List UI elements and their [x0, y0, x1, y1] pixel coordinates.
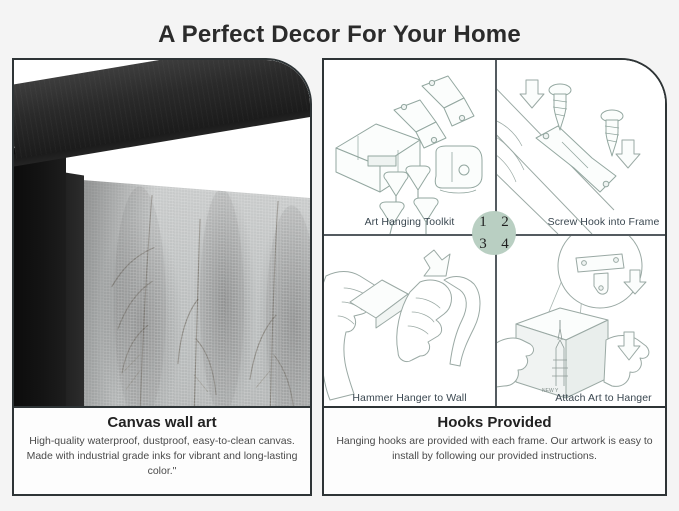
- hammer-hanger-to-wall-illustration: [324, 236, 495, 408]
- left-caption: Canvas wall art High-quality waterproof,…: [14, 406, 310, 494]
- product-photo: [14, 60, 310, 408]
- page-title: A Perfect Decor For Your Home: [0, 21, 679, 49]
- step-number-3: 3: [472, 233, 494, 255]
- canvas-weave-texture: [82, 180, 310, 408]
- step-panel-2: Screw Hook into Frame: [496, 60, 665, 234]
- left-caption-body: High-quality waterproof, dustproof, easy…: [24, 434, 300, 479]
- canvas-frame-photo: [14, 60, 310, 408]
- step-number-4: 4: [494, 233, 516, 255]
- art-hanging-toolkit-illustration: [324, 60, 495, 234]
- step-4-label: Attach Art to Hanger: [496, 392, 665, 404]
- right-caption-body: Hanging hooks are provided with each fra…: [334, 434, 655, 464]
- canvas-artwork-surface: [82, 180, 310, 408]
- attach-art-to-hanger-illustration: NEW Y: [496, 236, 665, 408]
- infographic-page: A Perfect Decor For Your Home: [0, 0, 679, 511]
- step-number-1: 1: [472, 211, 494, 233]
- wood-grain-texture: [14, 60, 310, 159]
- product-photo-card: Canvas wall art High-quality waterproof,…: [12, 58, 312, 496]
- step-number-badge: 1 2 3 4: [472, 211, 516, 255]
- left-caption-title: Canvas wall art: [24, 414, 300, 431]
- right-caption-title: Hooks Provided: [334, 414, 655, 431]
- instructions-card: Art Hanging Toolkit: [322, 58, 667, 496]
- step-panel-1: Art Hanging Toolkit: [324, 60, 495, 234]
- screw-hook-into-frame-illustration: [496, 60, 665, 234]
- step-number-2: 2: [494, 211, 516, 233]
- step-1-label: Art Hanging Toolkit: [324, 216, 495, 228]
- right-caption: Hooks Provided Hanging hooks are provide…: [324, 406, 665, 494]
- step-panel-3: Hammer Hanger to Wall: [324, 236, 495, 408]
- step-2-label: Screw Hook into Frame: [496, 216, 665, 228]
- frame-left-side: [14, 148, 66, 408]
- step-3-label: Hammer Hanger to Wall: [324, 392, 495, 404]
- step-panel-4: NEW Y Attach Art to Hanger: [496, 236, 665, 408]
- frame-top-face: [14, 60, 310, 159]
